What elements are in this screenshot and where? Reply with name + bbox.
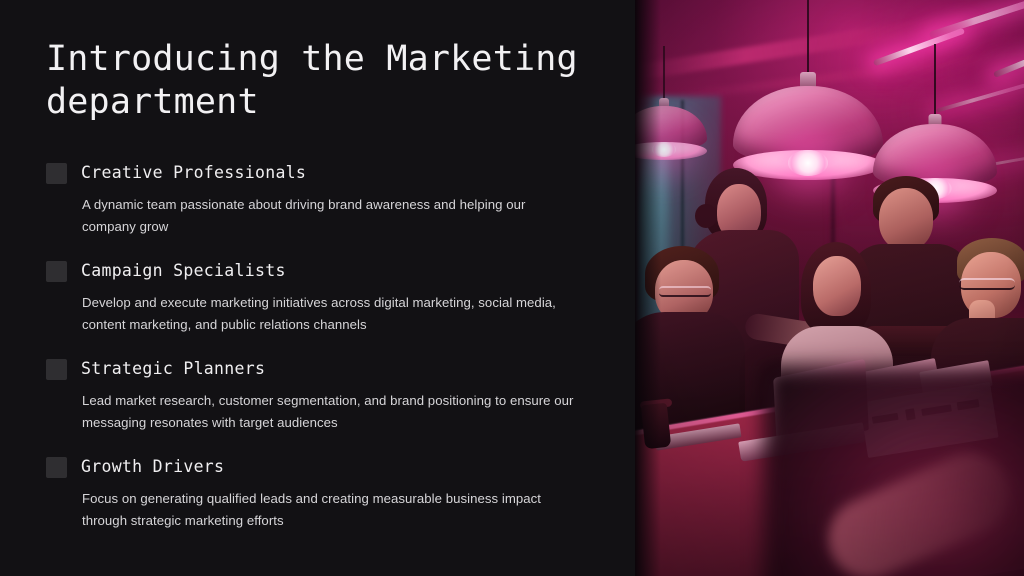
bullet-heading-row: Creative Professionals bbox=[46, 161, 591, 185]
bullet-body: Lead market research, customer segmentat… bbox=[82, 390, 582, 433]
bullet-list: Creative Professionals A dynamic team pa… bbox=[46, 161, 591, 531]
photo-left-shadow bbox=[635, 0, 661, 576]
content-panel: Introducing the Marketing department Cre… bbox=[0, 0, 635, 576]
photo-vignette bbox=[635, 0, 1024, 576]
slide-root: Introducing the Marketing department Cre… bbox=[0, 0, 1024, 576]
square-marker-icon bbox=[46, 261, 67, 282]
list-item: Strategic Planners Lead market research,… bbox=[46, 357, 591, 433]
bullet-body: Focus on generating qualified leads and … bbox=[82, 488, 582, 531]
bullet-body: Develop and execute marketing initiative… bbox=[82, 292, 582, 335]
bullet-heading-row: Campaign Specialists bbox=[46, 259, 591, 283]
bullet-heading-row: Growth Drivers bbox=[46, 455, 591, 479]
bullet-heading-row: Strategic Planners bbox=[46, 357, 591, 381]
list-item: Campaign Specialists Develop and execute… bbox=[46, 259, 591, 335]
meeting-photo bbox=[635, 0, 1024, 576]
bullet-title: Strategic Planners bbox=[81, 359, 265, 379]
square-marker-icon bbox=[46, 163, 67, 184]
page-title: Introducing the Marketing department bbox=[46, 38, 586, 124]
bullet-title: Campaign Specialists bbox=[81, 261, 286, 281]
bullet-body: A dynamic team passionate about driving … bbox=[82, 194, 582, 237]
square-marker-icon bbox=[46, 359, 67, 380]
square-marker-icon bbox=[46, 457, 67, 478]
list-item: Growth Drivers Focus on generating quali… bbox=[46, 455, 591, 531]
bullet-title: Creative Professionals bbox=[81, 163, 306, 183]
bullet-title: Growth Drivers bbox=[81, 457, 224, 477]
list-item: Creative Professionals A dynamic team pa… bbox=[46, 161, 591, 237]
